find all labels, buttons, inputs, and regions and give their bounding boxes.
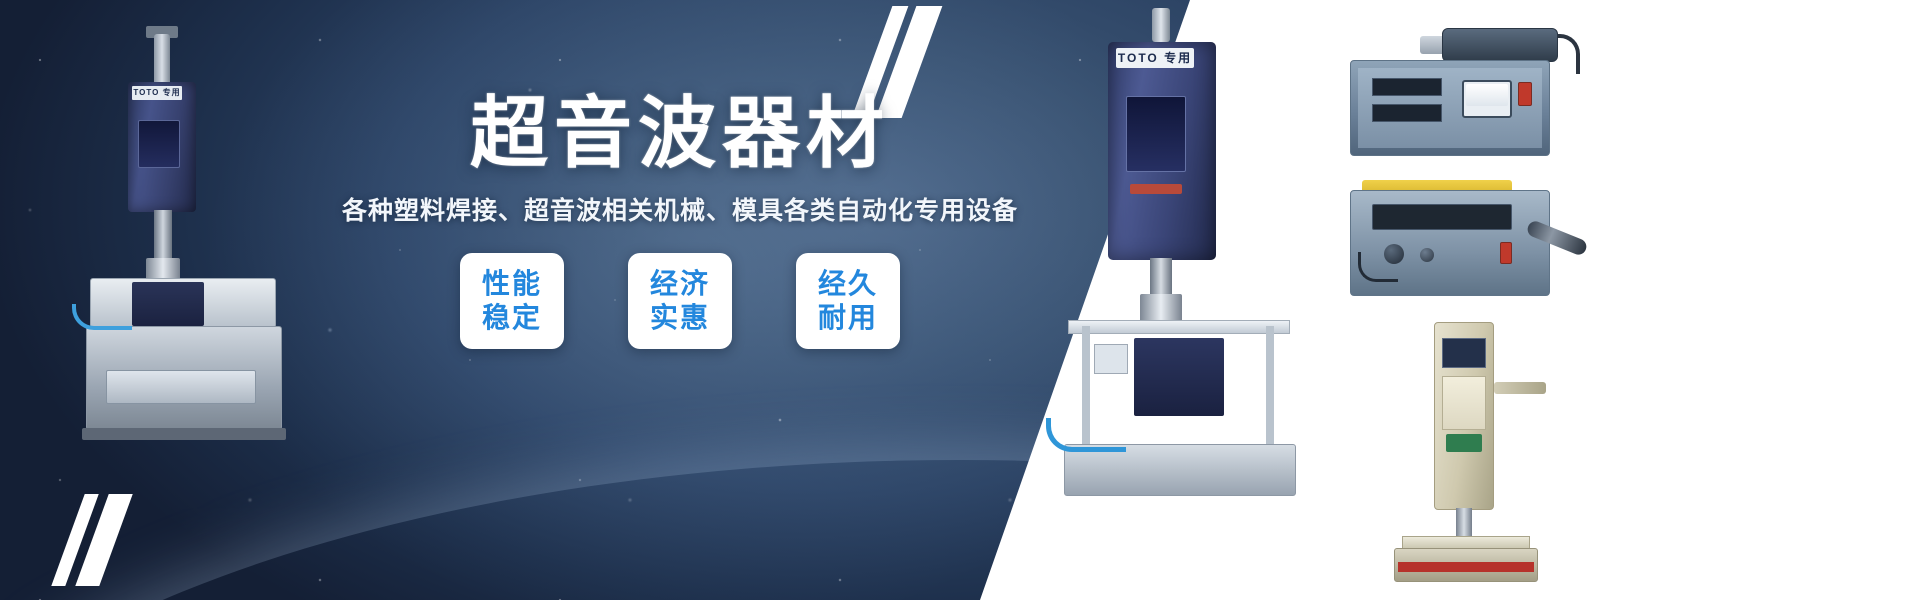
feature-badge-row: 性能 稳定 经济 实惠 经久 耐用 (330, 253, 1030, 349)
right-machine-button-strip (1130, 184, 1182, 194)
product-photo-handheld-welder (1350, 172, 1590, 308)
handheld-red-switch (1500, 242, 1512, 264)
transducer-body (1442, 28, 1558, 62)
right-machine-screen (1126, 96, 1186, 172)
right-machine-worktable (1068, 320, 1290, 334)
left-welding-machine-photo: TOTO 专用 (76, 20, 286, 450)
badge-line-2: 耐用 (818, 301, 878, 335)
right-welding-machine-photo: TOTO 专用 (1060, 8, 1300, 508)
badge-line-2: 稳定 (482, 301, 542, 335)
badge-line-2: 实惠 (650, 301, 710, 335)
left-machine-blue-cable (72, 304, 132, 330)
right-machine-column (1152, 8, 1170, 42)
feature-badge-economy[interactable]: 经济 实惠 (628, 253, 732, 349)
badge-line-1: 经久 (818, 267, 878, 301)
left-machine-stem (154, 210, 172, 262)
standing-welder-red-band (1398, 562, 1534, 572)
feature-badge-performance[interactable]: 性能 稳定 (460, 253, 564, 349)
handheld-dark-slot (1372, 204, 1512, 230)
left-machine-head-label: TOTO 专用 (132, 86, 182, 100)
banner-subtitle: 各种塑料焊接、超音波相关机械、模具各类自动化专用设备 (330, 195, 1030, 228)
right-machine-side-panel (1094, 344, 1128, 374)
standing-welder-control-panel (1442, 376, 1486, 430)
standing-welder-stem (1456, 508, 1472, 538)
badge-line-1: 经济 (650, 267, 710, 301)
product-photo-generator (1350, 28, 1580, 158)
right-machine-fixture (1134, 338, 1224, 416)
right-machine-head-label: TOTO 专用 (1116, 48, 1194, 68)
standing-welder-screen (1442, 338, 1486, 368)
handheld-knob-small (1420, 248, 1434, 262)
left-machine-fixture (132, 282, 204, 326)
standing-welder-arm (1494, 382, 1546, 394)
badge-line-1: 性能 (482, 267, 542, 301)
handheld-cable (1358, 252, 1398, 282)
generator-meter-dial (1466, 84, 1508, 106)
generator-display-top (1372, 78, 1442, 96)
right-machine-frame-right (1266, 326, 1274, 446)
generator-power-switch (1518, 82, 1532, 106)
banner-title: 超音波器材 (330, 92, 1030, 175)
banner-text-block: 超音波器材 各种塑料焊接、超音波相关机械、模具各类自动化专用设备 性能 稳定 经… (330, 92, 1030, 349)
left-machine-drawer (106, 370, 256, 404)
left-machine-screen (138, 120, 180, 168)
standing-welder-green-label (1446, 434, 1482, 452)
product-photo-standing-welder (1368, 322, 1568, 582)
right-machine-blue-cable (1046, 418, 1126, 452)
feature-badge-durability[interactable]: 经久 耐用 (796, 253, 900, 349)
generator-display-bottom (1372, 104, 1442, 122)
promo-banner: TOTO 专用 超音波器材 各种塑料焊接、超音波相关机械、模具各类自动化专用设备… (0, 0, 1920, 600)
left-machine-foot (82, 428, 286, 440)
